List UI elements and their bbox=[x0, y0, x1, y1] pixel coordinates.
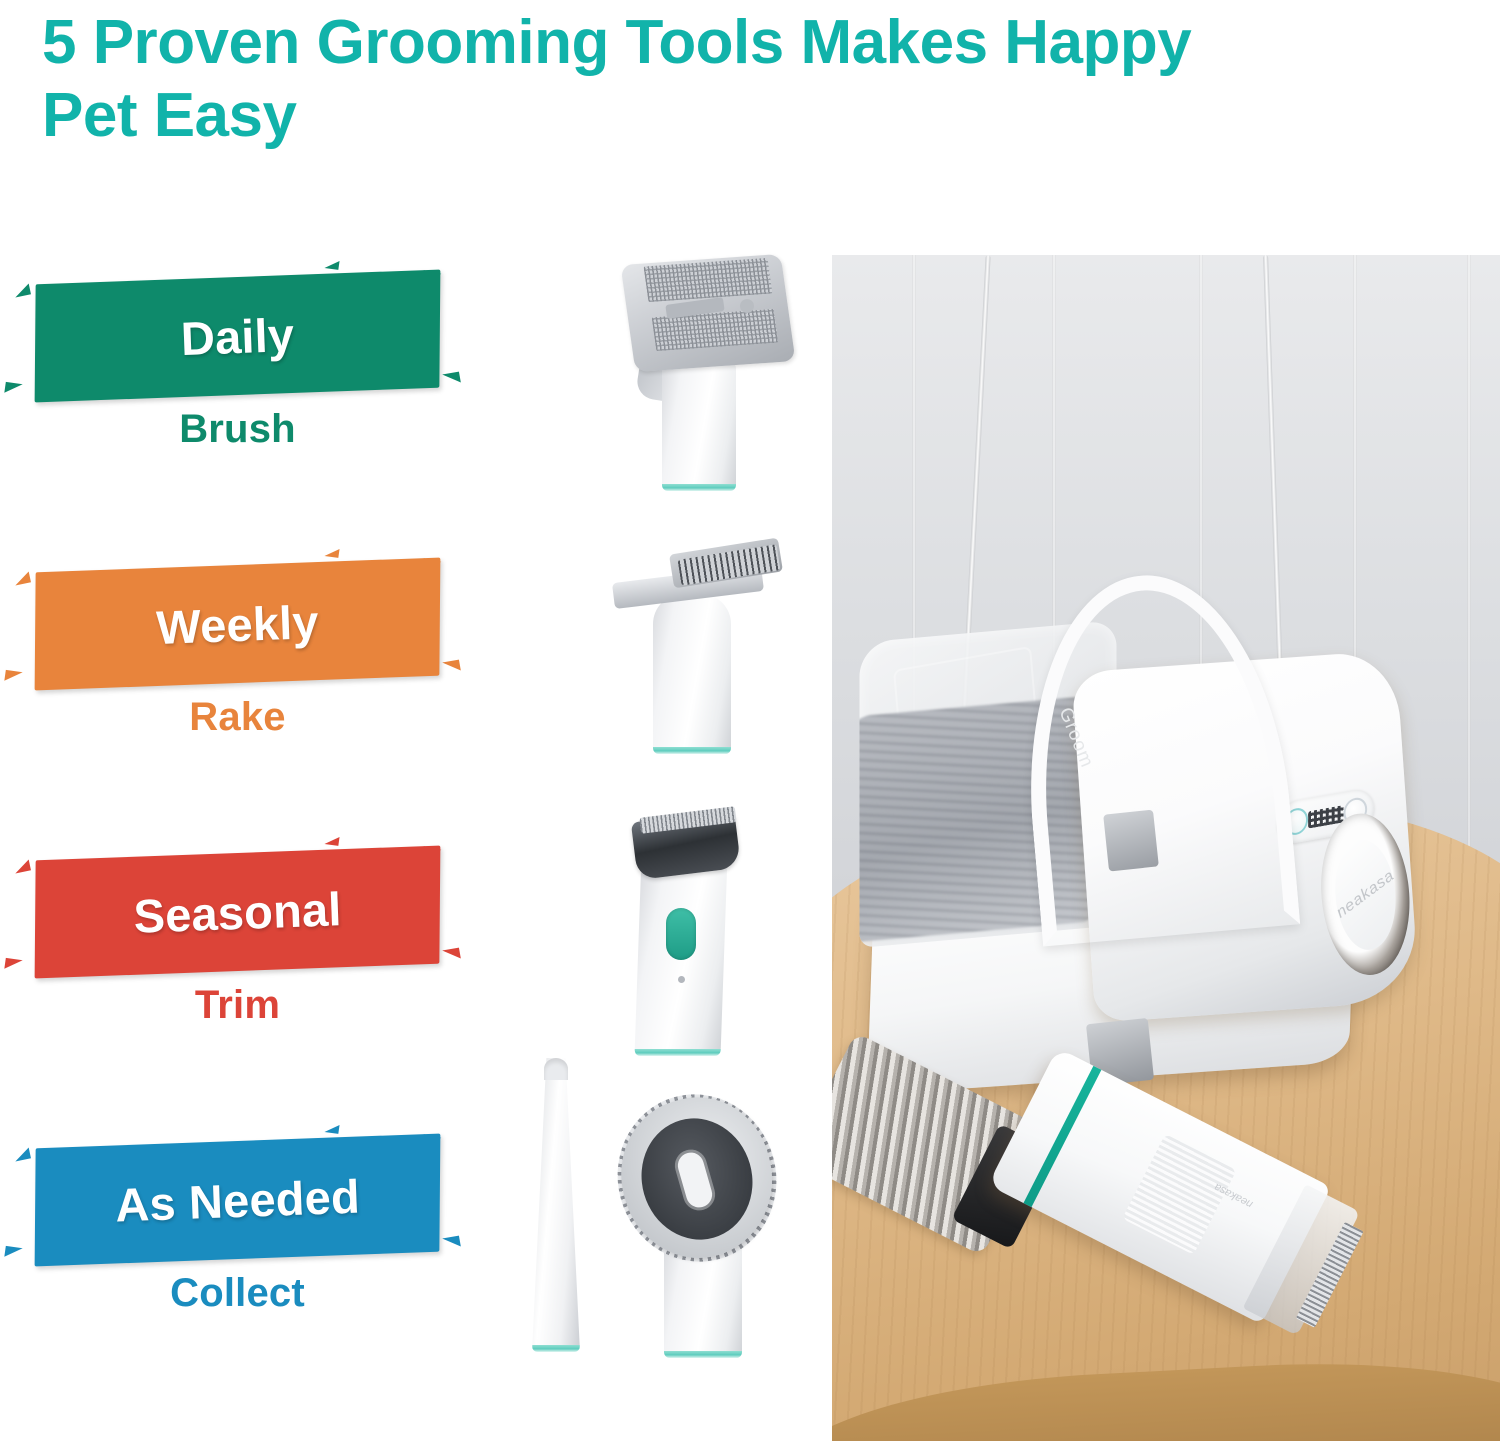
end-cap-face: neakasa bbox=[1329, 832, 1402, 957]
infographic-page: 5 Proven Grooming Tools Makes Happy Pet … bbox=[0, 0, 1500, 1441]
clipper-power-switch bbox=[666, 908, 696, 960]
clipper-led-indicator bbox=[678, 976, 685, 983]
grooming-vacuum-device: neakasa Groom bbox=[859, 623, 1420, 1097]
teal-base-ring bbox=[635, 1049, 721, 1056]
teal-base-ring bbox=[532, 1345, 580, 1352]
nozzle-tip bbox=[544, 1058, 568, 1080]
accent-triangle-icon bbox=[4, 958, 22, 971]
accent-triangle-icon bbox=[324, 259, 339, 270]
accent-triangle-icon bbox=[324, 547, 339, 558]
banner-subtitle-trim: Trim bbox=[35, 983, 440, 1028]
accent-triangle-icon bbox=[442, 372, 461, 386]
brush-body bbox=[662, 363, 736, 491]
teal-base-ring bbox=[662, 484, 736, 491]
accent-triangle-icon bbox=[324, 1123, 339, 1134]
page-title: 5 Proven Grooming Tools Makes Happy Pet … bbox=[42, 6, 1222, 152]
banner-title-seasonal: Seasonal bbox=[33, 846, 442, 979]
grooming-frequency-list: Daily Brush Weekly Rake Seasonal Trim bbox=[0, 255, 500, 1441]
accent-triangle-icon bbox=[4, 382, 22, 395]
accent-triangle-icon bbox=[13, 283, 31, 297]
banner-title-weekly: Weekly bbox=[33, 558, 442, 691]
clipper-attachment-image bbox=[612, 810, 792, 1060]
teal-base-ring bbox=[653, 747, 731, 754]
product-photo: neakasa Groom neakasa bbox=[832, 255, 1500, 1441]
tool-attachment-illustrations bbox=[500, 250, 830, 1410]
banner-subtitle-brush: Brush bbox=[35, 407, 440, 452]
accent-triangle-icon bbox=[13, 571, 31, 585]
accent-triangle-icon bbox=[442, 1236, 461, 1250]
brush-attachment-image bbox=[600, 255, 810, 490]
round-brush-attachment-image bbox=[612, 1090, 787, 1360]
banner-title-daily: Daily bbox=[33, 270, 442, 403]
rake-body bbox=[653, 594, 731, 754]
frequency-item-daily: Daily Brush bbox=[0, 255, 500, 535]
banner-subtitle-rake: Rake bbox=[35, 695, 440, 740]
teal-base-ring bbox=[664, 1351, 742, 1358]
crevice-nozzle-image bbox=[518, 1058, 596, 1358]
frequency-item-as-needed: As Needed Collect bbox=[0, 1119, 500, 1399]
frequency-item-seasonal: Seasonal Trim bbox=[0, 831, 500, 1111]
dust-cup-latch bbox=[1103, 810, 1159, 872]
banner-subtitle-collect: Collect bbox=[35, 1271, 440, 1316]
rake-attachment-image bbox=[595, 538, 810, 758]
banner-title-as-needed: As Needed bbox=[33, 1134, 442, 1267]
accent-triangle-icon bbox=[13, 1147, 31, 1161]
nozzle-body bbox=[532, 1058, 580, 1352]
accent-triangle-icon bbox=[4, 1246, 22, 1259]
carry-handle bbox=[1012, 565, 1301, 947]
frequency-item-weekly: Weekly Rake bbox=[0, 543, 500, 823]
accent-triangle-icon bbox=[442, 948, 461, 962]
wall-panel-seam bbox=[1467, 255, 1471, 919]
accent-triangle-icon bbox=[4, 670, 22, 683]
accent-triangle-icon bbox=[442, 660, 461, 674]
device-brand-logo: neakasa bbox=[1334, 867, 1398, 922]
accent-triangle-icon bbox=[324, 835, 339, 846]
accent-triangle-icon bbox=[13, 859, 31, 873]
